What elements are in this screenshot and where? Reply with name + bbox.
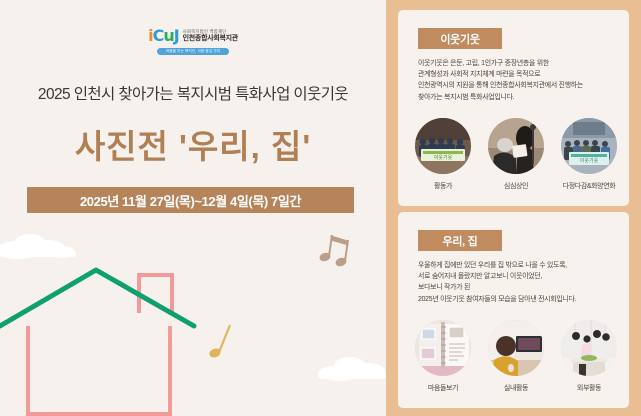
exhibition-date-badge: 2025년 11월 27일(목)~12월 4일(목) 7일간: [27, 187, 354, 213]
photo-dajeong-image: 이웃기웃: [561, 118, 617, 174]
poster-subtitle: 2025 인천시 찾아가는 복지시범 특화사업 이웃기웃: [0, 82, 386, 104]
photo-row-top: 이웃기웃 활동가: [414, 118, 618, 191]
logo-letter-u: u: [163, 26, 173, 45]
section-card-urijip: 우리, 집 우울하게 집에만 있던 우리를 집 밖으로 나올 수 있도록, 서로…: [398, 212, 629, 408]
photo-caption-simsimsangin: 심심상인: [487, 181, 545, 191]
photo-caption-mindcare: 마음돌보기: [414, 383, 472, 393]
photo-indoor[interactable]: [488, 320, 544, 376]
section-badge-iutgiut: 이웃기웃: [418, 28, 502, 49]
photo-outdoor[interactable]: [561, 320, 617, 376]
left-panel: iCuJ 사회복지법인 백합재단 인천종합사회복지관 마음을 잇는 복지관, 사…: [0, 0, 386, 416]
poster-root: iCuJ 사회복지법인 백합재단 인천종합사회복지관 마음을 잇는 복지관, 사…: [0, 0, 641, 416]
cloud-top-left: [0, 234, 76, 259]
photo-row-bottom: 마음돌보기: [414, 320, 618, 393]
music-note-single-icon: [209, 325, 230, 358]
photo-outdoor-image: [561, 320, 617, 376]
logo-tagline: 마음을 잇는 복지관, 사람 중심 가치: [157, 48, 229, 55]
icw-logo-icon: iCuJ: [148, 28, 179, 44]
house-roof: [0, 270, 194, 326]
photo-item-dajeong[interactable]: 이웃기웃 다정다감&화양연화: [560, 118, 618, 191]
cloud-bottom-right: [318, 357, 386, 381]
photo-activist-image: 이웃기웃: [415, 118, 471, 174]
photo-activist[interactable]: 이웃기웃: [415, 118, 471, 174]
logo-center-name: 인천종합사회복지관: [183, 35, 238, 43]
photo-simsimsangin-image: [488, 118, 544, 174]
photo-item-outdoor[interactable]: 외부활동: [560, 320, 618, 393]
photo-item-mindcare[interactable]: 마음돌보기: [414, 320, 472, 393]
photo-mindcare-image: [415, 320, 471, 376]
section-card-iutgiut: 이웃기웃 이웃기웃은 은둔, 고립, 1인가구 중장년층을 위한 관계형성과 사…: [398, 10, 629, 206]
photo-caption-outdoor: 외부활동: [560, 383, 618, 393]
logo-letter-j: J: [174, 26, 179, 45]
photo-caption-activist: 활동가: [414, 181, 472, 191]
section-body-urijip: 우울하게 집에만 있던 우리를 집 밖으로 나올 수 있도록, 서로 숨어지내 …: [418, 260, 618, 305]
section-badge-urijip: 우리, 집: [418, 230, 502, 251]
photo-item-activist[interactable]: 이웃기웃 활동가: [414, 118, 472, 191]
svg-text:이웃기웃: 이웃기웃: [434, 154, 453, 161]
photo-simsimsangin[interactable]: [488, 118, 544, 174]
poster-title: 사진전 '우리, 집': [0, 120, 386, 168]
svg-text:이웃기웃: 이웃기웃: [580, 157, 599, 164]
photo-caption-indoor: 실내활동: [487, 383, 545, 393]
right-panel: 이웃기웃 이웃기웃은 은둔, 고립, 1인가구 중장년층을 위한 관계형성과 사…: [386, 0, 641, 416]
photo-caption-dajeong: 다정다감&화양연화: [560, 181, 618, 191]
logo-letter-c: C: [153, 26, 164, 45]
photo-dajeong[interactable]: 이웃기웃: [561, 118, 617, 174]
photo-item-indoor[interactable]: 실내활동: [487, 320, 545, 393]
logo-text: 사회복지법인 백합재단 인천종합사회복지관: [183, 29, 238, 42]
section-body-iutgiut: 이웃기웃은 은둔, 고립, 1인가구 중장년층을 위한 관계형성과 사회적 지지…: [418, 58, 618, 103]
music-note-beamed-icon: [319, 235, 348, 267]
house-illustration: [0, 215, 386, 416]
logo-row: iCuJ 사회복지법인 백합재단 인천종합사회복지관: [148, 28, 238, 44]
photo-mindcare[interactable]: [415, 320, 471, 376]
organization-logo: iCuJ 사회복지법인 백합재단 인천종합사회복지관 마음을 잇는 복지관, 사…: [0, 28, 386, 55]
photo-item-simsimsangin[interactable]: 심심상인: [487, 118, 545, 191]
photo-indoor-image: [488, 320, 544, 376]
